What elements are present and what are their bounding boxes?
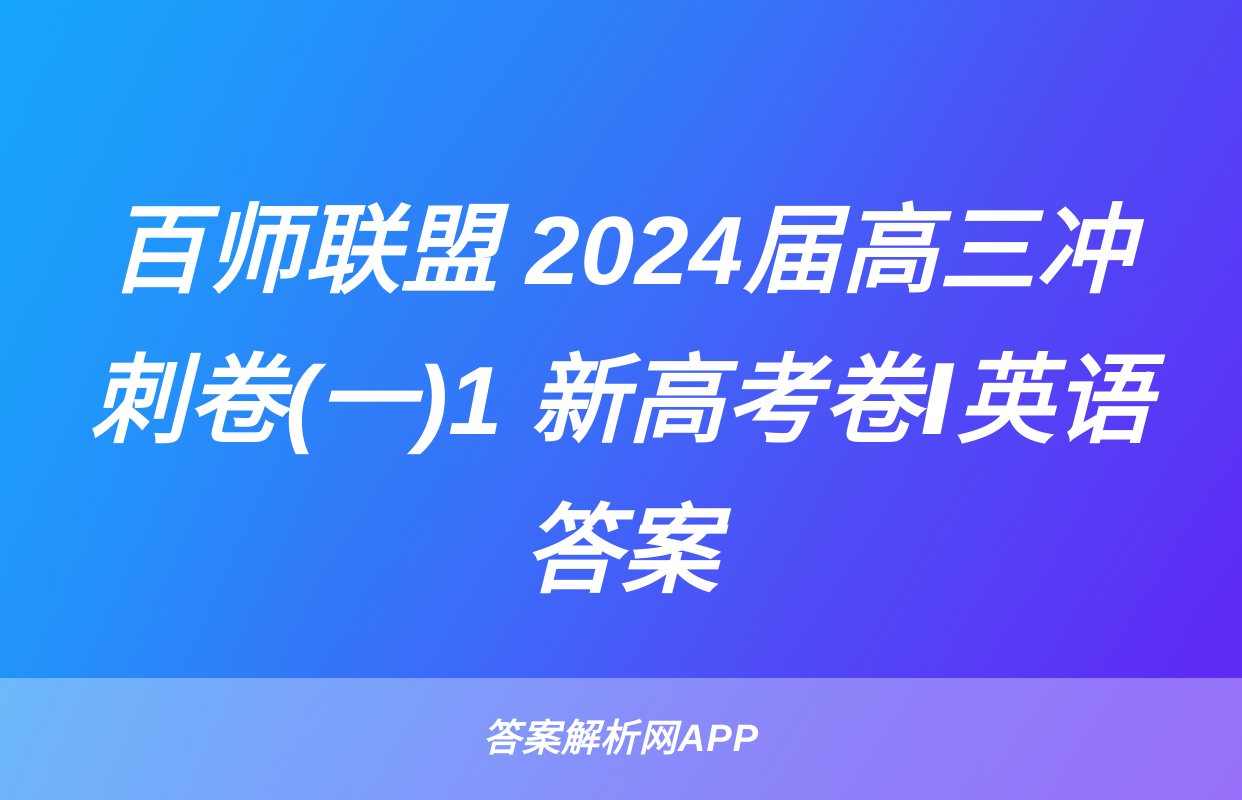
footer-watermark-band: 答案解析网APP	[0, 678, 1242, 800]
watermark-label: 答案解析网APP	[483, 720, 759, 758]
poster-canvas: 百师联盟 2024届高三冲刺卷(一)1 新高考卷Ⅰ英语答案 答案解析网APP	[0, 0, 1242, 800]
page-title: 百师联盟 2024届高三冲刺卷(一)1 新高考卷Ⅰ英语答案	[0, 176, 1242, 626]
